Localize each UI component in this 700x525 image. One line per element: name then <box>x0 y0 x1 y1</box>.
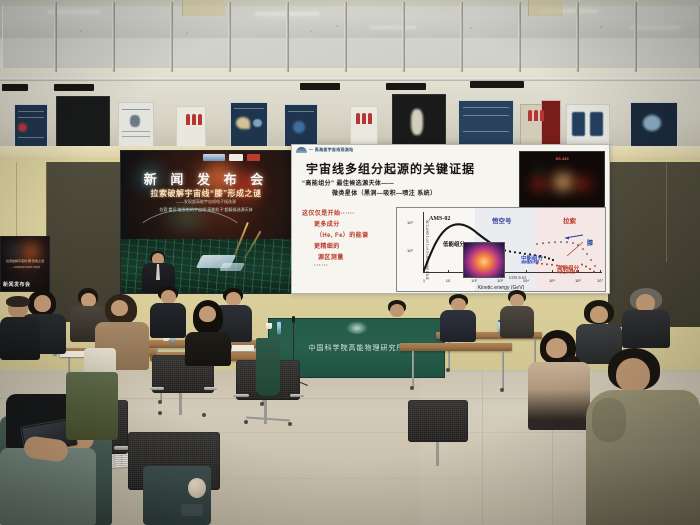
ss433-inset-image: SS 433 <box>519 151 605 208</box>
attendee-right-ponytail <box>528 330 590 430</box>
microphone-icon <box>292 316 295 323</box>
sci-logo <box>247 154 260 161</box>
wall-mini-poster: 拉索破解宇宙线“膝”形成之谜 ——发现超高能宇宙线电子候选源 新闻发布会 <box>0 236 50 292</box>
chart-annotation-mid-sub: 源群叠加贡献 <box>521 260 539 264</box>
lhaaso-logo <box>203 154 225 161</box>
coat-on-chair[interactable] <box>66 372 118 440</box>
slide-logo-text: 一 高海拔宇宙线观测站 <box>309 147 353 153</box>
chart-label-ams02: AMS-02 <box>429 216 450 222</box>
left-screen-subline2: ——发现超高能宇宙线电子候选源 <box>121 199 291 205</box>
attendee-front-left-lower <box>0 448 96 525</box>
left-screen-logos <box>203 154 260 161</box>
attendee-row0-left <box>150 286 186 338</box>
left-screen-subtitle: 拉索破解宇宙线“膝”形成之谜 <box>121 188 291 199</box>
wall-poster-title: 新闻发布会 <box>3 281 31 288</box>
table-row2 <box>400 343 512 351</box>
chart-annotation-high-sub: 单源主导贡献 <box>557 270 575 274</box>
slide-bullet-1: “高能组分” 最佳候选源天体—— <box>302 178 394 187</box>
ss433-label: SS 433 <box>520 156 604 161</box>
paper-cup[interactable] <box>266 323 272 329</box>
slide-bullet-5: （He, Fe）的能谱 <box>316 230 368 239</box>
helmet-on-floor <box>188 478 206 498</box>
left-screen-title: 新 闻 发 布 会 <box>121 169 291 188</box>
attendee-right-grayhair <box>622 288 670 348</box>
attendee-right-olive-jacket <box>586 348 700 525</box>
chart-label-wukong: 悟空号 <box>492 215 512 225</box>
institute-logo-icon <box>346 321 368 334</box>
chart-annotation-knee: 膝 <box>587 238 593 247</box>
slide-bullet-8: ······ <box>314 263 328 269</box>
coat-on-chair-green[interactable] <box>256 338 280 396</box>
office-chair[interactable] <box>408 400 468 470</box>
slide-logo: 一 高海拔宇宙线观测站 <box>296 147 353 153</box>
slide-bullet-6: 更精细的 <box>314 241 340 250</box>
attendee-mid-woman-darkhair <box>185 300 231 366</box>
slide-bullet-3: 这仅仅是开始······ <box>302 208 355 217</box>
wall-poster-line1: 拉索破解宇宙线“膝”形成之谜 <box>3 259 47 263</box>
slide-bullet-7: 源区测量 <box>318 252 344 261</box>
attendee-far-left <box>380 300 414 346</box>
attendee-far-center <box>440 294 476 342</box>
exhibition-poster <box>14 104 48 148</box>
left-projection-screen[interactable]: 新 闻 发 布 会 拉索破解宇宙线“膝”形成之谜 ——发现超高能宇宙线电子候选源… <box>120 150 292 294</box>
water-bottle[interactable] <box>277 322 281 335</box>
cosmic-ray-spectrum-chart: E^2.6 dN/dE [m^-2 s^-1 sr^-1 GeV^1.6] Ki… <box>396 207 606 292</box>
photo-scene: 新 闻 发 布 会 拉索破解宇宙线“膝”形成之谜 ——发现超高能宇宙线电子候选源… <box>0 0 700 525</box>
document-on-table[interactable] <box>232 345 254 351</box>
lhaaso-dome-icon <box>296 147 307 153</box>
handrail <box>0 78 700 81</box>
attendee-mid-bald <box>0 298 40 360</box>
slide-title: 宇宙线多组分起源的关键证据 <box>306 160 475 177</box>
nsr-logo <box>229 154 243 161</box>
chart-label-lhaaso: 拉索 <box>563 215 576 225</box>
chart-annotation-low: 低能组分 <box>443 240 465 248</box>
chart-annotation-source-name: G150.3+4.5 <box>509 276 526 280</box>
slide-bullet-2: 微类星体（黑洞—吸积—喷注 系统） <box>332 188 436 197</box>
source-region-inset <box>463 242 505 278</box>
right-projection-screen[interactable]: 一 高海拔宇宙线观测站 宇宙线多组分起源的关键证据 “高能组分” 最佳候选源天体… <box>291 144 610 294</box>
wall-poster-line2: ——发现超高能宇宙线电子候选源 <box>3 266 47 269</box>
slide-bullet-4: 更多成分 <box>314 219 340 228</box>
